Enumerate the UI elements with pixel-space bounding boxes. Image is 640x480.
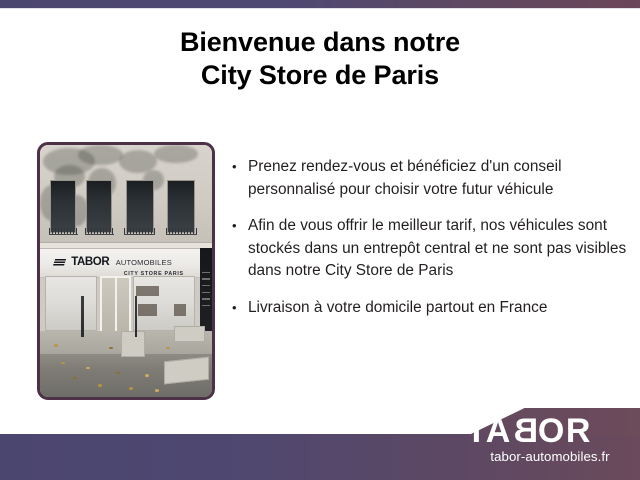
bullet-marker-icon: • bbox=[232, 215, 248, 283]
tabor-stripes-icon bbox=[53, 259, 66, 266]
page-title: Bienvenue dans notre City Store de Paris bbox=[0, 26, 640, 92]
bullet-marker-icon: • bbox=[232, 156, 248, 201]
photo-storefront-sign: TABOR AUTOMOBILES CITY STORE PARIS bbox=[54, 255, 198, 278]
photo-balcony-railing bbox=[124, 228, 155, 235]
tabor-logo-wordmark: TABOR bbox=[466, 414, 640, 448]
list-item-text: Afin de vous offrir le meilleur tarif, n… bbox=[248, 215, 630, 283]
photo-interior-furniture bbox=[138, 304, 157, 317]
photo-window bbox=[86, 180, 112, 233]
photo-bollard bbox=[81, 296, 84, 336]
photo-shop-window bbox=[45, 276, 97, 331]
tabor-logo-url: tabor-automobiles.fr bbox=[466, 449, 634, 464]
logo-text-pre: TA bbox=[466, 412, 512, 450]
photo-shop-door bbox=[100, 276, 131, 336]
photo-sign-brand: TABOR bbox=[71, 257, 109, 269]
photo-window bbox=[50, 180, 76, 233]
list-item: • Afin de vous offrir le meilleur tarif,… bbox=[232, 215, 630, 283]
photo-fallen-leaf bbox=[129, 387, 133, 390]
photo-fallen-leaf bbox=[109, 347, 113, 350]
storefront-photo-frame: TABOR AUTOMOBILES CITY STORE PARIS bbox=[37, 142, 215, 400]
top-accent-hairline bbox=[0, 8, 640, 9]
logo-text-b-stylized: B bbox=[512, 414, 538, 448]
photo-fallen-leaf bbox=[54, 344, 58, 347]
photo-curb-stone bbox=[121, 331, 145, 356]
photo-interior-furniture bbox=[136, 286, 158, 296]
photo-curb-stone bbox=[174, 326, 205, 341]
photo-bollard bbox=[135, 296, 138, 336]
list-item: • Prenez rendez-vous et bénéficiez d'un … bbox=[232, 156, 630, 201]
photo-side-shutter bbox=[200, 248, 212, 331]
bullet-marker-icon: • bbox=[232, 297, 248, 320]
photo-door-divider bbox=[115, 278, 117, 334]
photo-storefront-band: TABOR AUTOMOBILES CITY STORE PARIS bbox=[40, 248, 212, 278]
list-item-text: Prenez rendez-vous et bénéficiez d'un co… bbox=[248, 156, 630, 201]
photo-foliage-shadow bbox=[78, 145, 123, 165]
photo-balcony-railing bbox=[166, 228, 197, 235]
top-accent-bar bbox=[0, 0, 640, 8]
list-item: • Livraison à votre domicile partout en … bbox=[232, 297, 630, 320]
photo-interior-furniture bbox=[174, 304, 186, 317]
photo-window bbox=[167, 180, 195, 233]
page-title-line-1: Bienvenue dans notre bbox=[0, 26, 640, 59]
list-item-text: Livraison à votre domicile partout en Fr… bbox=[248, 297, 630, 320]
photo-foliage-shadow bbox=[154, 145, 199, 163]
photo-balcony-railing bbox=[85, 228, 114, 235]
logo-text-post: OR bbox=[538, 412, 592, 450]
photo-fallen-leaf bbox=[145, 374, 149, 377]
photo-fallen-leaf bbox=[61, 362, 65, 365]
photo-sign-brand-suffix: AUTOMOBILES bbox=[116, 259, 172, 267]
page-title-line-2: City Store de Paris bbox=[0, 59, 640, 92]
bullet-list: • Prenez rendez-vous et bénéficiez d'un … bbox=[232, 156, 630, 319]
photo-window bbox=[126, 180, 154, 233]
photo-balcony-railing bbox=[49, 228, 78, 235]
storefront-photo: TABOR AUTOMOBILES CITY STORE PARIS bbox=[40, 145, 212, 397]
photo-fallen-leaf bbox=[166, 347, 170, 350]
tabor-logo: TABOR tabor-automobiles.fr bbox=[466, 414, 640, 472]
